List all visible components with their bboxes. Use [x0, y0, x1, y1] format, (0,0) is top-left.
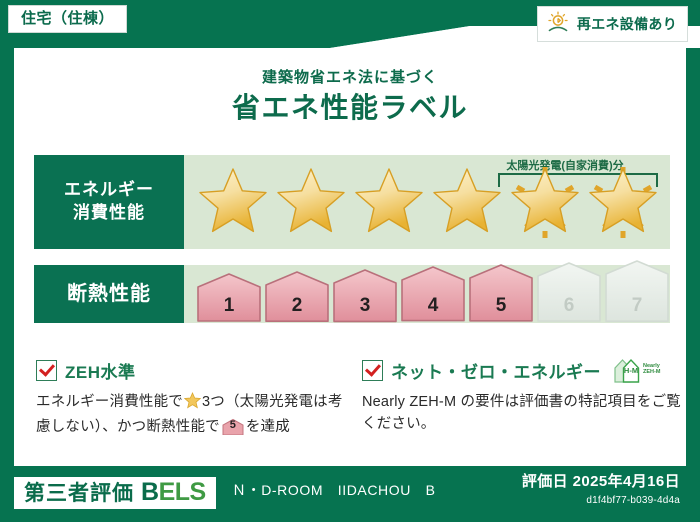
inline-level-badge-value: 5 [222, 417, 244, 434]
insulation-level-value: 1 [196, 295, 262, 317]
net-zero-energy-title: ネット・ゼロ・エネルギー [391, 358, 601, 383]
star-icon [430, 165, 504, 239]
svg-text:H-M: H-M [624, 366, 638, 375]
solar-star-icon [586, 165, 660, 239]
insulation-level-badge: 3 [332, 268, 398, 323]
bels-letter-b: B [141, 478, 159, 506]
insulation-level-badge: 6 [536, 261, 602, 323]
energy-performance-label-cell: エネルギー 消費性能 [34, 155, 184, 249]
zeh-m-logo-sub2: ZEH-M [643, 370, 660, 376]
net-zero-energy-heading: ネット・ゼロ・エネルギー H-M Nearly ZEH-M [362, 358, 682, 382]
renewable-badge-label: 再エネ設備あり [577, 17, 677, 31]
insulation-level-value: 2 [264, 295, 330, 317]
insulation-performance-label-cell: 断熱性能 [34, 265, 184, 323]
net-zero-energy-block: ネット・ゼロ・エネルギー H-M Nearly ZEH-M Nearly ZEH… [362, 358, 682, 436]
check-icon [362, 360, 383, 381]
bels-letters-els: ELS [159, 478, 206, 506]
insulation-level-badge: 7 [604, 259, 670, 323]
bels-jp-label: 第三者評価 [24, 483, 134, 504]
star-icon [196, 165, 270, 239]
insulation-level-value: 6 [536, 295, 602, 317]
sun-icon [546, 11, 570, 37]
energy-performance-value-cell: 太陽光発電(自家消費)分 [184, 155, 670, 249]
inline-star-icon [184, 392, 201, 416]
zeh-standard-heading: ZEH水準 [36, 358, 346, 382]
insulation-level-badge: 2 [264, 270, 330, 323]
energy-label-line2: 消費性能 [64, 202, 154, 225]
insulation-performance-value-cell: 1 2 3 [184, 265, 670, 323]
insulation-level-value: 7 [604, 295, 670, 317]
property-name: Ｎ・D-ROOM IIDACHOU B [232, 480, 436, 500]
inline-level-badge: 5 [222, 418, 244, 435]
insulation-level-value: 3 [332, 295, 398, 317]
label-title: 省エネ性能ラベル [0, 86, 700, 126]
house-type-tag: 住宅（住棟） [8, 5, 127, 33]
insulation-performance-row: 断熱性能 1 2 [34, 265, 670, 323]
insulation-level-badges: 1 2 3 [184, 265, 670, 323]
solar-star-icon [508, 165, 582, 239]
evaluation-date: 評価日 2025年4月16日 [522, 470, 680, 491]
star-icon [274, 165, 348, 239]
insulation-level-value: 4 [400, 295, 466, 317]
evaluation-id: d1f4bf77-b039-4d4a [586, 495, 680, 506]
check-icon [36, 360, 57, 381]
net-zero-energy-body: Nearly ZEH-M の要件は評価書の特記項目をご覧ください。 [362, 391, 682, 436]
zeh-m-logo: H-M Nearly ZEH-M [613, 357, 660, 383]
zeh-standard-title: ZEH水準 [65, 358, 136, 383]
energy-label-line1: エネルギー [64, 179, 154, 202]
energy-performance-label: 住宅（住棟） 再エネ設備あり 建築物省エネ法に基づく 省エネ性能ラベル パナス [0, 0, 700, 522]
renewable-equipment-badge: 再エネ設備あり [537, 6, 688, 42]
insulation-level-badge: 5 [468, 263, 534, 323]
star-icon [352, 165, 426, 239]
insulation-level-badge: 4 [400, 265, 466, 323]
bels-certification-logo: 第三者評価 BELS [14, 477, 216, 509]
zeh-body-part3: を達成 [246, 419, 290, 435]
energy-performance-row: エネルギー 消費性能 太陽光発電(自家消費)分 [34, 155, 670, 249]
star-rating [184, 155, 670, 249]
insulation-level-badge: 1 [196, 272, 262, 323]
zeh-body-part1: エネルギー消費性能で [36, 394, 183, 410]
zeh-standard-body: エネルギー消費性能で3つ（太陽光発電は考慮しない）、かつ断熱性能で5を達成 [36, 391, 346, 439]
label-subtitle: 建築物省エネ法に基づく [0, 66, 700, 87]
zeh-standard-block: ZEH水準 エネルギー消費性能で3つ（太陽光発電は考慮しない）、かつ断熱性能で5… [36, 358, 346, 439]
insulation-level-value: 5 [468, 295, 534, 317]
